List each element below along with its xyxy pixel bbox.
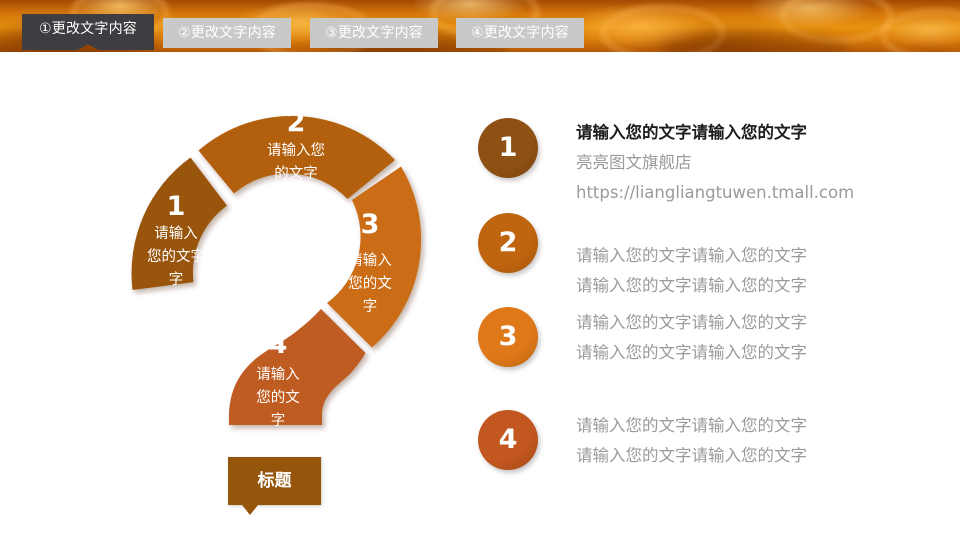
item-4-line-2: 请输入您的文字请输入您的文字 (576, 441, 936, 471)
tab-bar: ①更改文字内容 ②更改文字内容 ③更改文字内容 ④更改文字内容 (0, 18, 960, 52)
tab-3[interactable]: ③更改文字内容 (310, 18, 438, 48)
qmark-segment-1-line-1: 请输入 (154, 225, 198, 242)
qmark-segment-4-line-1: 请输入 (256, 366, 300, 383)
question-mark-svg: 1 请输入 您的文字 字 2 请输入您 的文字 3 请输入 您的文 字 4 请输… (100, 85, 450, 435)
qmark-segment-2-line-1: 请输入您 (267, 142, 325, 159)
tab-1[interactable]: ①更改文字内容 (22, 14, 154, 50)
item-2-line-2: 请输入您的文字请输入您的文字 (576, 271, 936, 301)
item-4-line-1: 请输入您的文字请输入您的文字 (576, 411, 936, 441)
item-3-text: 请输入您的文字请输入您的文字 请输入您的文字请输入您的文字 (576, 308, 936, 368)
qmark-segment-4-line-2: 您的文 (256, 389, 300, 406)
qmark-segment-3-number: 3 (361, 209, 380, 240)
diagram-title-label: 标题 (228, 457, 321, 505)
qmark-segment-2-line-2: 的文字 (274, 165, 318, 182)
item-3-line-1: 请输入您的文字请输入您的文字 (576, 308, 936, 338)
qmark-segment-4-number: 4 (269, 329, 288, 360)
item-3-line-2: 请输入您的文字请输入您的文字 (576, 338, 936, 368)
badge-1[interactable]: 1 (478, 118, 538, 178)
content-list: 1 请输入您的文字请输入您的文字 亮亮图文旗舰店 https://liangli… (478, 118, 938, 498)
qmark-segment-4-line-3: 字 (271, 412, 286, 429)
qmark-segment-3-line-1: 请输入 (348, 252, 392, 269)
item-1-line-2: 亮亮图文旗舰店 (576, 148, 936, 178)
badge-4[interactable]: 4 (478, 410, 538, 470)
question-mark-diagram: 1 请输入 您的文字 字 2 请输入您 的文字 3 请输入 您的文 字 4 请输… (100, 85, 450, 435)
diagram-title-box[interactable]: 标题 (228, 457, 321, 505)
qmark-segment-1-line-3: 字 (169, 271, 184, 288)
item-1-line-3: https://liangliangtuwen.tmall.com (576, 178, 936, 208)
title-box-tail-icon (242, 505, 258, 515)
tab-2[interactable]: ②更改文字内容 (163, 18, 291, 48)
qmark-segment-2-number: 2 (287, 107, 306, 138)
qmark-segment-3-line-2: 您的文 (348, 275, 392, 292)
qmark-segment-1-line-2: 您的文字 (147, 248, 205, 265)
qmark-segment-3-line-3: 字 (363, 298, 378, 315)
item-1-text: 请输入您的文字请输入您的文字 亮亮图文旗舰店 https://lianglian… (576, 118, 936, 208)
item-2-text: 请输入您的文字请输入您的文字 请输入您的文字请输入您的文字 (576, 241, 936, 301)
badge-2[interactable]: 2 (478, 213, 538, 273)
qmark-segment-1[interactable] (132, 158, 227, 291)
qmark-segment-1-number: 1 (167, 191, 186, 222)
item-1-line-1: 请输入您的文字请输入您的文字 (576, 118, 936, 148)
item-4-text: 请输入您的文字请输入您的文字 请输入您的文字请输入您的文字 (576, 411, 936, 471)
badge-3[interactable]: 3 (478, 307, 538, 367)
tab-4[interactable]: ④更改文字内容 (456, 18, 584, 48)
item-2-line-1: 请输入您的文字请输入您的文字 (576, 241, 936, 271)
